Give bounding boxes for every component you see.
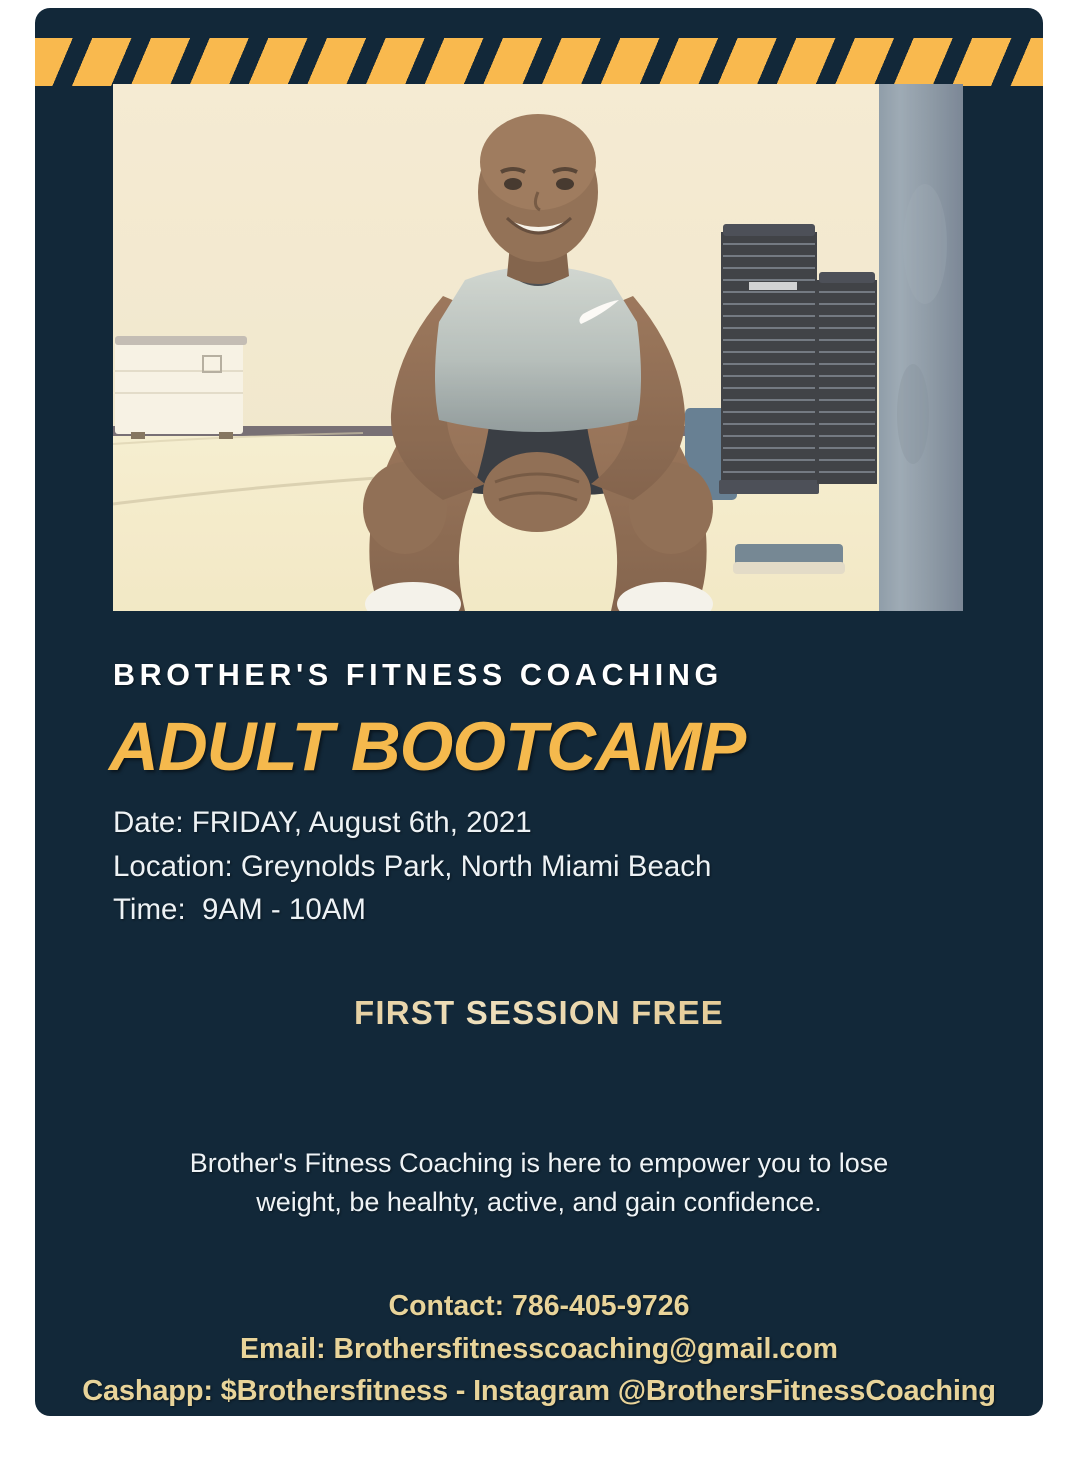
event-date: Date: FRIDAY, August 6th, 2021: [113, 801, 1043, 844]
event-location: Location: Greynolds Park, North Miami Be…: [113, 845, 1043, 888]
description-line-2: weight, be healhty, active, and gain con…: [145, 1183, 933, 1223]
event-details: Date: FRIDAY, August 6th, 2021 Location:…: [35, 783, 1043, 931]
brand-name: BROTHER'S FITNESS COACHING: [35, 628, 1043, 693]
description-line-1: Brother's Fitness Coaching is here to em…: [145, 1144, 933, 1184]
contact-social: Cashapp: $Brothersfitness - Instagram @B…: [57, 1370, 1021, 1413]
flyer-content: BROTHER'S FITNESS COACHING ADULT BOOTCAM…: [35, 628, 1043, 1413]
contact-block: Contact: 786-405-9726 Email: Brothersfit…: [35, 1223, 1043, 1412]
event-time: Time: 9AM - 10AM: [113, 888, 1043, 931]
gym-photo-illustration: [113, 84, 963, 611]
contact-email: Email: Brothersfitnesscoaching@gmail.com: [57, 1328, 1021, 1370]
hazard-stripes: [35, 38, 1043, 86]
hero-photo: [113, 84, 963, 611]
flyer-card: BROTHER'S FITNESS COACHING ADULT BOOTCAM…: [35, 8, 1043, 1416]
description-text: Brother's Fitness Coaching is here to em…: [35, 1032, 1043, 1224]
contact-phone: Contact: 786-405-9726: [57, 1285, 1021, 1327]
hazard-stripe-band: [35, 38, 1043, 86]
promo-banner: FIRST SESSION FREE: [35, 932, 1043, 1032]
page-title: ADULT BOOTCAMP: [35, 693, 1043, 783]
